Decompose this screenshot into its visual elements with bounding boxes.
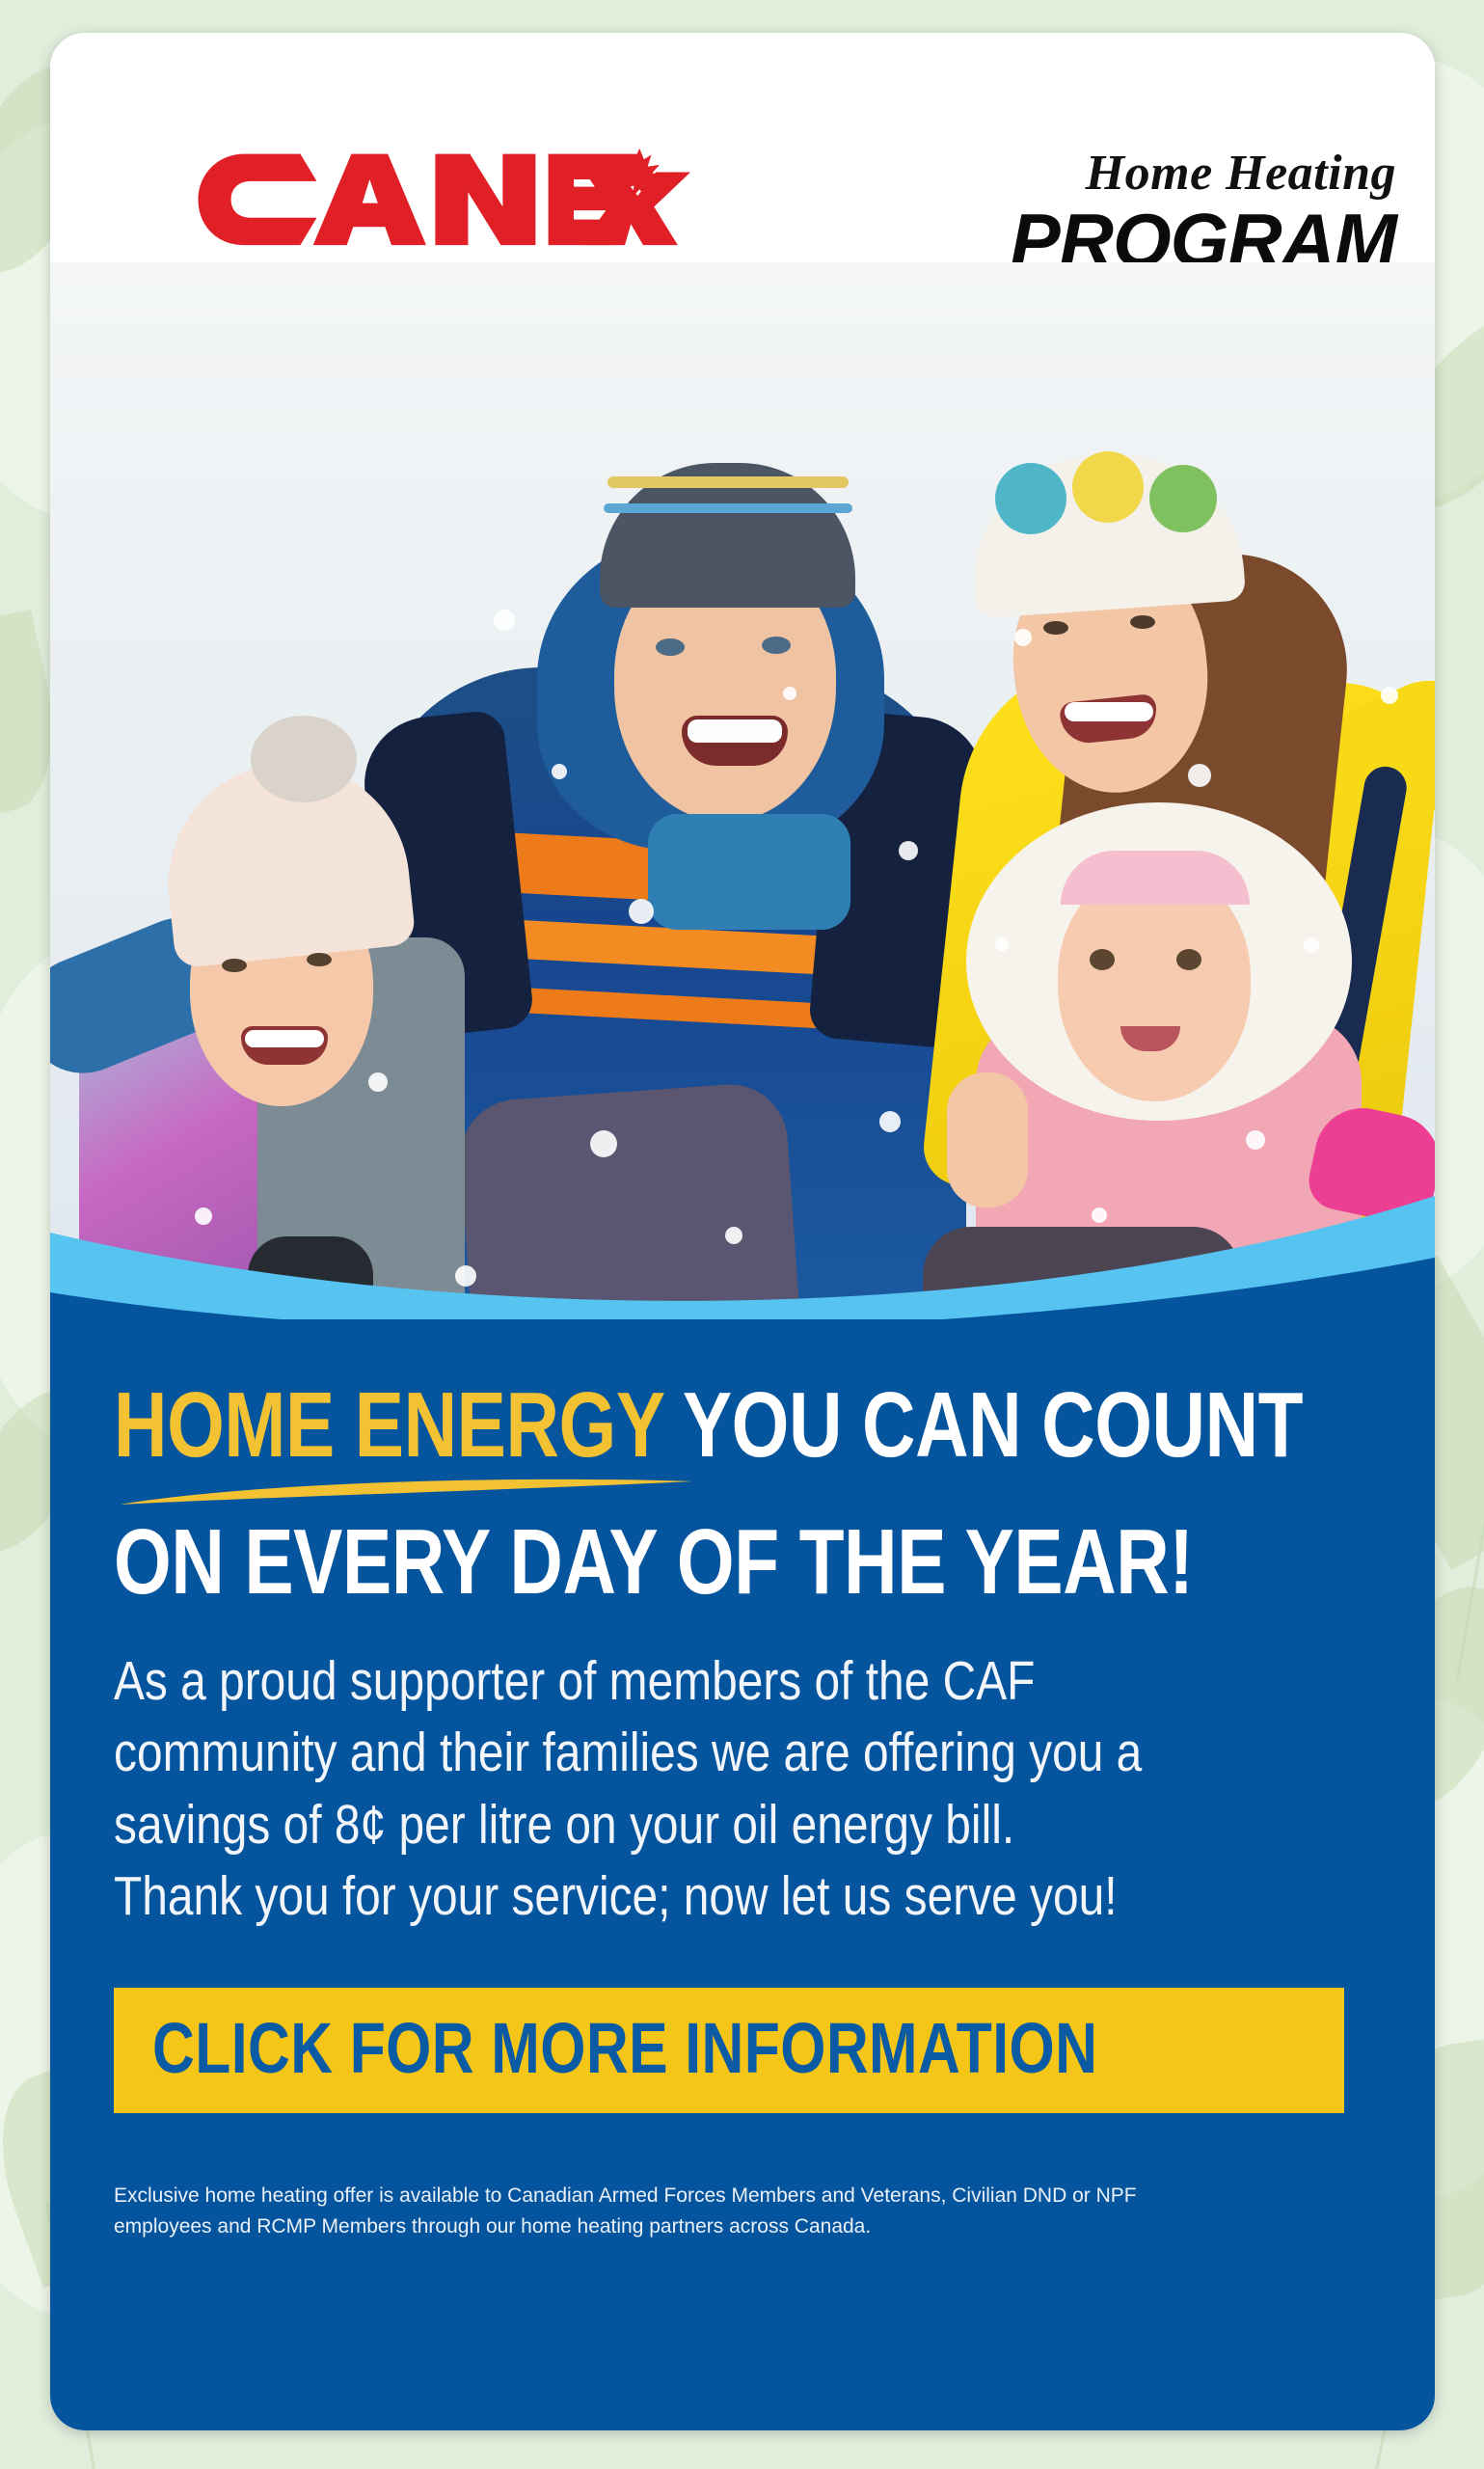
disclaimer-text: Exclusive home heating offer is availabl… [114,2181,1203,2243]
father-beanie-stripe [607,476,849,488]
older-girl-teeth [245,1030,324,1047]
poster-page: Home Heating PROGRAM [0,0,1484,2469]
mother-hat-patch [1149,465,1217,532]
headline-rest: YOU CAN COUNT [663,1373,1303,1477]
younger-girl-pants [923,1227,1241,1319]
body-line: savings of 8¢ per litre on your oil ener… [114,1789,1361,1860]
body-line: Thank you for your service; now let us s… [114,1860,1361,1932]
click-for-more-information-button[interactable]: CLICK FOR MORE INFORMATION [114,1988,1344,2113]
younger-girl-face [1058,870,1251,1101]
snowflake [1188,764,1211,787]
mother-eye [1043,621,1068,635]
canex-logo [191,147,701,247]
snowflake [455,1265,476,1287]
program-title: Home Heating PROGRAM [1011,149,1396,278]
father-scarf [648,814,850,930]
older-girl-pompom [251,716,357,802]
hero-photo [50,262,1435,1319]
headline-accent: HOME ENERGY [114,1373,663,1477]
snowflake [629,899,654,924]
snowflake [1014,629,1032,646]
snowflake [783,687,796,700]
content-panel: HOME ENERGY YOU CAN COUNT ON EVERY DAY O… [50,1319,1435,2430]
program-title-line1: Home Heating [1011,149,1396,199]
card-header: Home Heating PROGRAM [50,33,1435,262]
younger-girl-eye [1090,949,1115,970]
mother-hat-patch [1072,451,1144,523]
headline-swoosh-underline [116,1476,694,1508]
younger-girl-eye [1176,949,1201,970]
mother-eye [1130,615,1155,629]
snowflake [995,937,1009,951]
cta-label: CLICK FOR MORE INFORMATION [152,2013,1097,2084]
older-girl-mitten [248,1236,373,1319]
older-girl-eye [222,959,247,972]
father-teeth [688,719,782,743]
body-copy: As a proud supporter of members of the C… [114,1645,1361,1931]
snowflake [1092,1207,1107,1223]
body-line: community and their families we are offe… [114,1717,1361,1788]
snowflake [368,1072,388,1092]
headline-line-1: HOME ENERGY YOU CAN COUNT [114,1381,1120,1470]
mother-teeth [1065,702,1153,721]
father-pants [456,1080,800,1319]
snowflake [590,1130,617,1157]
younger-girl-hand [947,1072,1028,1207]
mother-hat-patch [995,463,1066,534]
background-stem [1456,1336,1484,1678]
snowflake [899,841,918,860]
younger-girl-pink-band [1061,851,1250,905]
snowflake [879,1111,901,1132]
older-girl-eye [307,953,332,966]
snowflake [1304,937,1319,953]
father-eye [656,638,685,656]
snowflake [552,764,567,779]
poster-card: Home Heating PROGRAM [50,33,1435,2430]
body-line: As a proud supporter of members of the C… [114,1645,1361,1717]
headline-line-2: ON EVERY DAY OF THE YEAR! [114,1518,1120,1607]
snowflake [1381,687,1398,704]
snowflake [1246,1130,1265,1150]
snowflake [494,610,515,631]
father-beanie-stripe [604,503,852,513]
snowflake [195,1207,212,1225]
snowflake [725,1227,742,1244]
hero-scene [50,262,1435,1319]
father-eye [762,637,791,654]
